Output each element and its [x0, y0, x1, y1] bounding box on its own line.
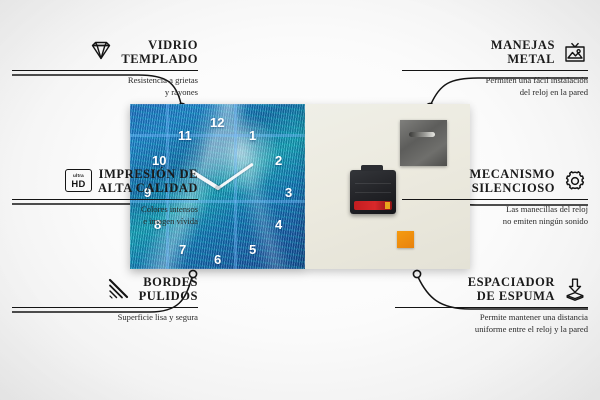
picture-frame-hanger-icon [562, 40, 588, 64]
hanger-slot [409, 132, 435, 137]
polished-edges-icon [106, 277, 132, 301]
metal-hanger-plate [400, 120, 447, 166]
title-rule [12, 199, 198, 201]
clock-numeral-3: 3 [285, 186, 292, 199]
feature-title-line2: PULIDOS [139, 289, 198, 303]
clock-numeral-4: 4 [275, 218, 282, 231]
feature-desc-line2: e imagen vívida [12, 216, 198, 228]
diamond-icon [88, 40, 114, 64]
feature-desc-line2: no emiten ningún sonido [402, 216, 588, 228]
battery-compartment [354, 201, 392, 210]
feature-desc-line1: Las manecillas del reloj [402, 204, 588, 216]
clock-numeral-5: 5 [249, 243, 256, 256]
pattern-line [234, 104, 237, 269]
feature-desc-line1: Permiten una fácil instalación [402, 75, 588, 87]
feature-desc-line1: Superficie lisa y segura [12, 312, 198, 324]
ultra-hd-large-text: HD [71, 179, 85, 188]
feature-title-line1: ESPACIADOR [468, 275, 555, 289]
feature-title-line2: TEMPLADO [121, 52, 198, 66]
clock-center-cap [216, 186, 220, 190]
feature-title-line2: ALTA CALIDAD [98, 181, 198, 195]
feature-manejas-metal: MANEJAS METAL Permiten una fácil instala… [402, 38, 588, 98]
feature-title-line1: VIDRIO [121, 38, 198, 52]
feature-title-line2: METAL [491, 52, 555, 66]
clock-numeral-12: 12 [210, 116, 224, 129]
title-rule [12, 70, 198, 72]
mechanism-seam [355, 183, 391, 184]
mechanism-tab [361, 165, 383, 171]
title-rule [402, 70, 588, 72]
clock-numeral-2: 2 [275, 154, 282, 167]
title-rule [402, 199, 588, 201]
feature-title-line2: SILENCIOSO [469, 181, 555, 195]
clock-numeral-10: 10 [152, 154, 166, 167]
feature-bordes-pulidos: BORDES PULIDOS Superficie lisa y segura [12, 275, 198, 324]
feature-vidrio-templado: VIDRIO TEMPLADO Resistencia a grietas y … [12, 38, 198, 98]
clock-numeral-11: 11 [178, 129, 192, 142]
feature-desc-line1: Colores intensos [12, 204, 198, 216]
infographic-canvas: 12 1 2 3 4 5 6 7 8 9 10 11 [0, 0, 600, 400]
gear-icon [562, 169, 588, 193]
feature-title-line1: IMPRESIÓN DE [98, 167, 198, 181]
feature-desc-line2: y rayones [12, 87, 198, 99]
feature-impresion-alta-calidad: ultra HD IMPRESIÓN DE ALTA CALIDAD Color… [12, 167, 198, 227]
feature-title-line2: DE ESPUMA [468, 289, 555, 303]
feature-espaciador-espuma: ESPACIADOR DE ESPUMA Permite mantener un… [395, 275, 588, 335]
clock-numeral-6: 6 [214, 253, 221, 266]
feature-desc-line1: Permite mantener una distancia [395, 312, 588, 324]
feature-title-line1: MANEJAS [491, 38, 555, 52]
feature-title-line1: BORDES [139, 275, 198, 289]
mechanism-seam [355, 192, 391, 193]
clock-numeral-7: 7 [179, 243, 186, 256]
feature-desc-line2: del reloj en la pared [402, 87, 588, 99]
ultra-hd-badge-icon: ultra HD [65, 169, 91, 193]
title-rule [12, 307, 198, 309]
feature-desc-line2: uniforme entre el reloj y la pared [395, 324, 588, 336]
title-rule [395, 307, 588, 309]
clock-mechanism-box [350, 170, 396, 214]
feature-mecanismo-silencioso: MECANISMO SILENCIOSO Las manecillas del … [402, 167, 588, 227]
feature-title-line1: MECANISMO [469, 167, 555, 181]
clock-numeral-1: 1 [249, 129, 256, 142]
foam-spacer-arrow-icon [562, 277, 588, 301]
feature-desc-line1: Resistencia a grietas [12, 75, 198, 87]
pattern-line [130, 134, 305, 137]
foam-spacer-pad [397, 231, 414, 248]
